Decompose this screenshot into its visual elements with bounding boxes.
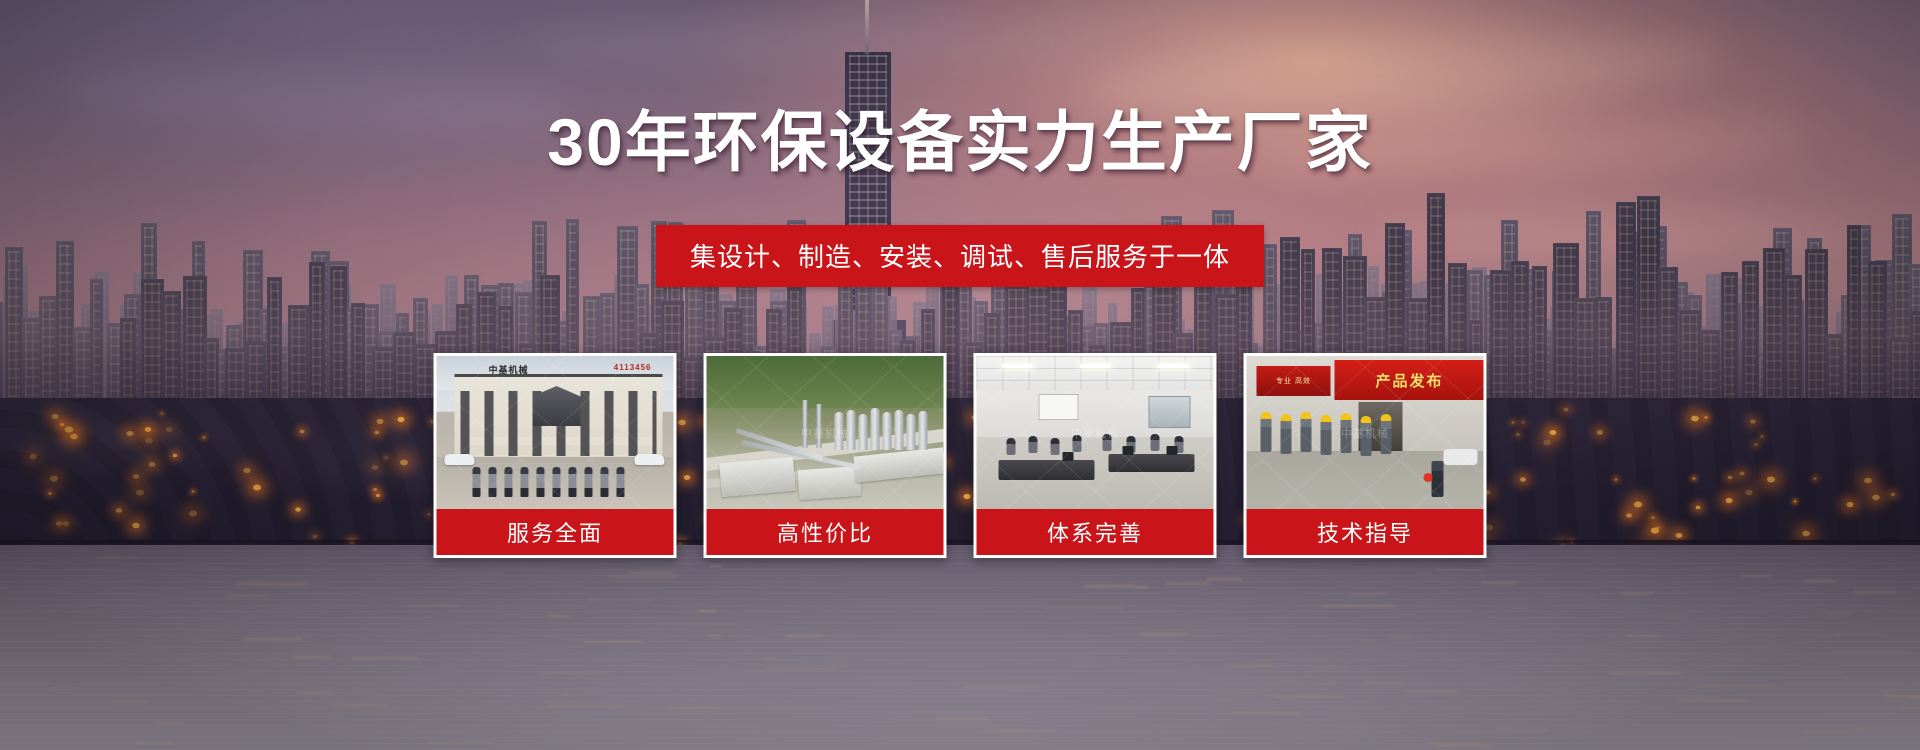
company-phone-text: 4113456 [614, 363, 652, 372]
office-desk [999, 460, 1095, 480]
feature-card[interactable]: 中基机械 4113456 [434, 353, 677, 558]
product-launch-banner: 产品发布 [1335, 360, 1484, 400]
ceiling-light [1081, 364, 1111, 368]
safety-helmet-icon [1261, 412, 1272, 419]
card-label: 服务全面 [437, 509, 674, 555]
feature-card[interactable]: 专业 高效 产品发布 中基机械 技术指导 [1244, 353, 1487, 558]
card-photo-office-interior: 中基机械 [977, 356, 1214, 509]
monitor [1063, 452, 1074, 461]
storage-silo [919, 411, 928, 450]
ceiling-panels [977, 356, 1214, 390]
staff-person [521, 467, 529, 497]
office-desk [1109, 454, 1195, 472]
office-worker [1151, 434, 1160, 451]
worker-with-helmet [1261, 418, 1272, 452]
feature-card[interactable]: 中基机械 体系完善 [974, 353, 1217, 558]
office-worker [1007, 438, 1016, 455]
card-photo-office-building: 中基机械 4113456 [437, 356, 674, 509]
office-worker [1029, 436, 1038, 453]
parked-car [635, 454, 665, 465]
parked-car [445, 454, 475, 465]
watermark-text: 中基机械 [1071, 425, 1119, 441]
watermark-text: 中基机械 [801, 425, 849, 441]
company-sign-text: 中基机械 [489, 363, 529, 376]
staff-person [473, 467, 481, 497]
factory-shed [853, 447, 943, 482]
storage-silo [859, 414, 868, 450]
watermark-text: 中基机械 [1341, 425, 1389, 441]
feature-card-list: 中基机械 4113456 [434, 353, 1487, 558]
safety-helmet-icon [1341, 413, 1352, 420]
safety-helmet-icon [1321, 415, 1332, 422]
safety-helmet-icon [1381, 414, 1392, 421]
staff-person [505, 467, 513, 497]
banner-headline: 30年环保设备实力生产厂家 [0, 104, 1920, 182]
banner-content: 30年环保设备实力生产厂家 集设计、制造、安装、调试、售后服务于一体 中基机械 … [0, 0, 1920, 750]
worker-with-helmet [1321, 421, 1332, 455]
supervisor-person [1432, 461, 1444, 497]
monitor [1123, 446, 1134, 455]
window-blinds [1149, 396, 1191, 428]
card-label: 技术指导 [1247, 509, 1484, 555]
safety-helmet-icon [1361, 416, 1372, 423]
ceiling-light [1159, 364, 1189, 368]
staff-person [489, 467, 497, 497]
staff-person [537, 467, 545, 497]
storage-silo [907, 414, 916, 450]
office-worker [1051, 438, 1060, 455]
staff-person [569, 467, 577, 497]
staff-person [553, 467, 561, 497]
worker-with-helmet [1301, 418, 1312, 452]
safety-helmet-icon [1281, 414, 1292, 421]
card-label: 体系完善 [977, 509, 1214, 555]
card-label: 高性价比 [707, 509, 944, 555]
worker-with-helmet [1281, 420, 1292, 454]
hero-banner: 30年环保设备实力生产厂家 集设计、制造、安装、调试、售后服务于一体 中基机械 … [0, 0, 1920, 750]
monitor [1167, 446, 1178, 455]
banner-subtitle-bar: 集设计、制造、安装、调试、售后服务于一体 [656, 225, 1264, 287]
feature-card[interactable]: 中基机械 高性价比 [704, 353, 947, 558]
green-field [707, 356, 944, 408]
storage-silo [895, 410, 904, 450]
factory-shed [798, 466, 862, 500]
card-photo-aerial-plant: 中基机械 [707, 356, 944, 509]
safety-helmet-icon [1301, 412, 1312, 419]
delivery-truck [1444, 449, 1478, 465]
storage-silo [883, 412, 892, 450]
storage-silo [871, 408, 880, 450]
ceiling-light [1003, 364, 1033, 368]
wall-slogan-banner: 专业 高效 [1257, 366, 1331, 396]
wall-board [1039, 394, 1079, 420]
staff-person [585, 467, 593, 497]
staff-person [617, 467, 625, 497]
card-photo-workshop: 专业 高效 产品发布 中基机械 [1247, 356, 1484, 509]
staff-person [601, 467, 609, 497]
factory-shed [719, 457, 796, 497]
